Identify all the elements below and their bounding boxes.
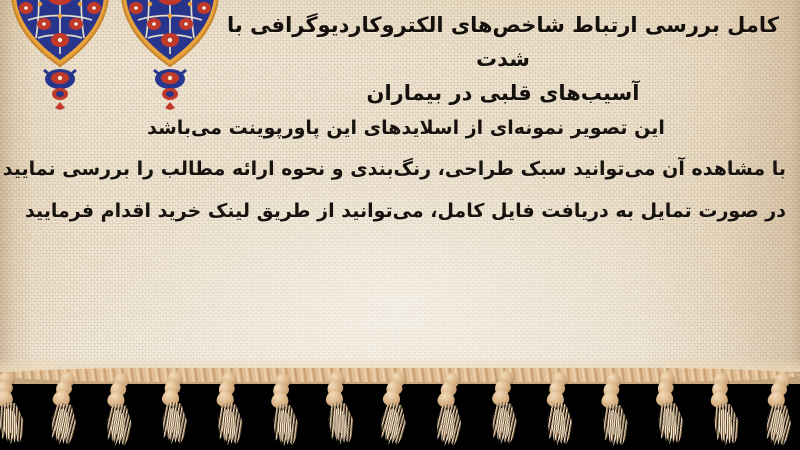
slide-body-line-2: با مشاهده آن می‌توانید سبک طراحی، رنگ‌بن… — [26, 149, 786, 190]
slide-body-line-1: این تصویر نمونه‌ای از اسلایدهای این پاور… — [26, 108, 786, 149]
slide-body: این تصویر نمونه‌ای از اسلایدهای این پاور… — [26, 108, 786, 232]
slide-title-line-1: کامل بررسی ارتباط شاخص‌های الکتروکاردیوگ… — [220, 8, 786, 76]
persian-carpet-medallion-icon-right — [116, 0, 224, 110]
persian-carpet-medallion-icon-left — [6, 0, 114, 110]
fringe-rail — [0, 368, 800, 382]
presentation-slide: کامل بررسی ارتباط شاخص‌های الکتروکاردیوگ… — [0, 0, 800, 450]
slide-title-line-2: آسیب‌های قلبی در بیماران — [220, 76, 786, 110]
bottom-black-band — [0, 372, 800, 450]
slide-title: کامل بررسی ارتباط شاخص‌های الکتروکاردیوگ… — [220, 8, 786, 110]
slide-body-line-3: در صورت تمایل به دریافت فایل کامل، می‌تو… — [26, 191, 786, 232]
